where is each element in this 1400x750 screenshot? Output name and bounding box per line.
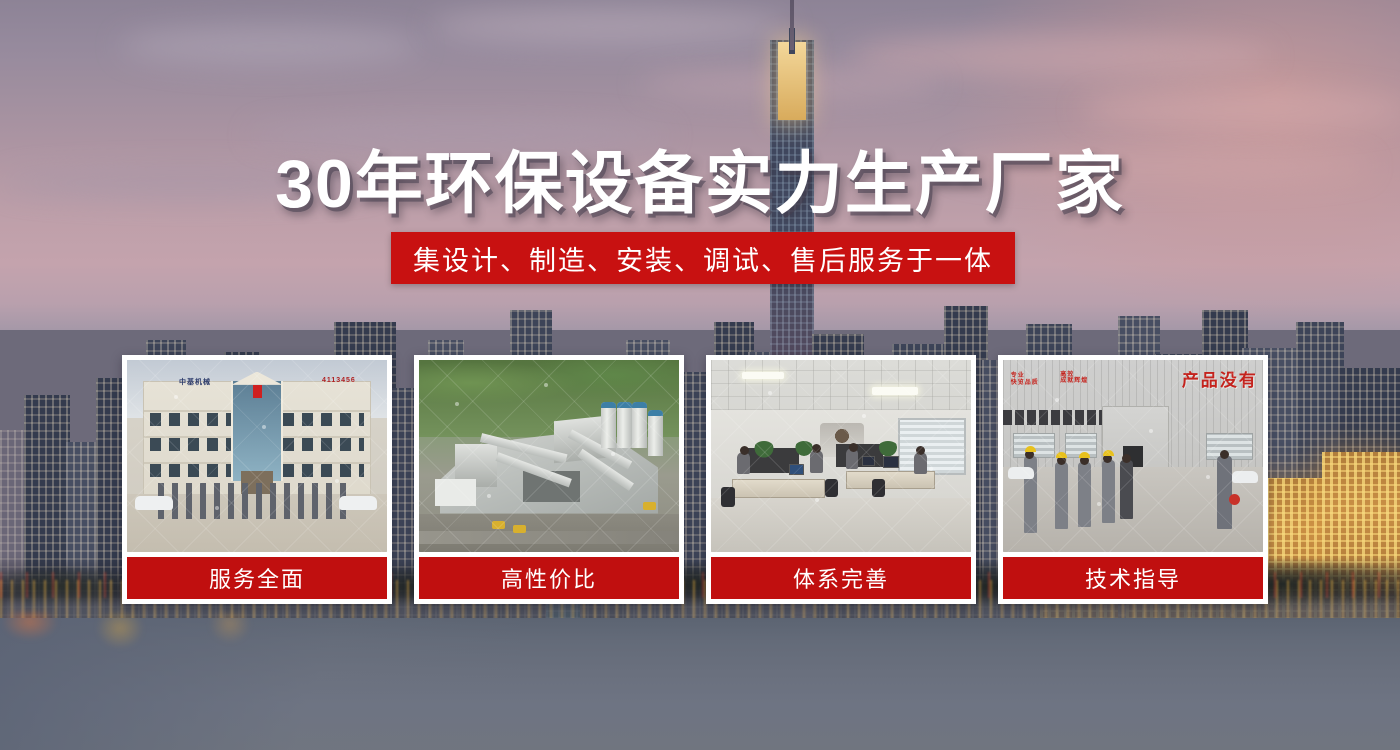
subtitle-banner: 集设计、制造、安装、调试、售后服务于一体 (391, 232, 1015, 284)
card-label-guidance: 技术指导 (1003, 557, 1263, 599)
feature-card-service[interactable]: 中基机械 4113456 服务全面 (122, 355, 392, 604)
feature-card-value[interactable]: 高性价比 (414, 355, 684, 604)
factory-sign-text: 产品没有 (1182, 366, 1258, 391)
feature-card-row: 中基机械 4113456 服务全面 (122, 355, 1278, 604)
feature-card-system[interactable]: 体系完善 (706, 355, 976, 604)
tower-antenna (790, 0, 794, 50)
factory-workers-photo: 产品没有 专业快览品质 高效成就辉煌 (1003, 360, 1263, 552)
page-title: 30年环保设备实力生产厂家 (0, 128, 1400, 227)
river-reflections (0, 612, 420, 672)
card-label-value: 高性价比 (419, 557, 679, 599)
office-interior-photo (711, 360, 971, 552)
building-phone-text: 4113456 (322, 377, 356, 384)
promo-banner: 30年环保设备实力生产厂家 集设计、制造、安装、调试、售后服务于一体 (0, 0, 1400, 750)
card-label-system: 体系完善 (711, 557, 971, 599)
card-label-service: 服务全面 (127, 557, 387, 599)
company-building-photo: 中基机械 4113456 (127, 360, 387, 552)
aerial-plant-photo (419, 360, 679, 552)
feature-card-guidance[interactable]: 产品没有 专业快览品质 高效成就辉煌 (998, 355, 1268, 604)
building-sign-text: 中基机械 (179, 377, 211, 387)
